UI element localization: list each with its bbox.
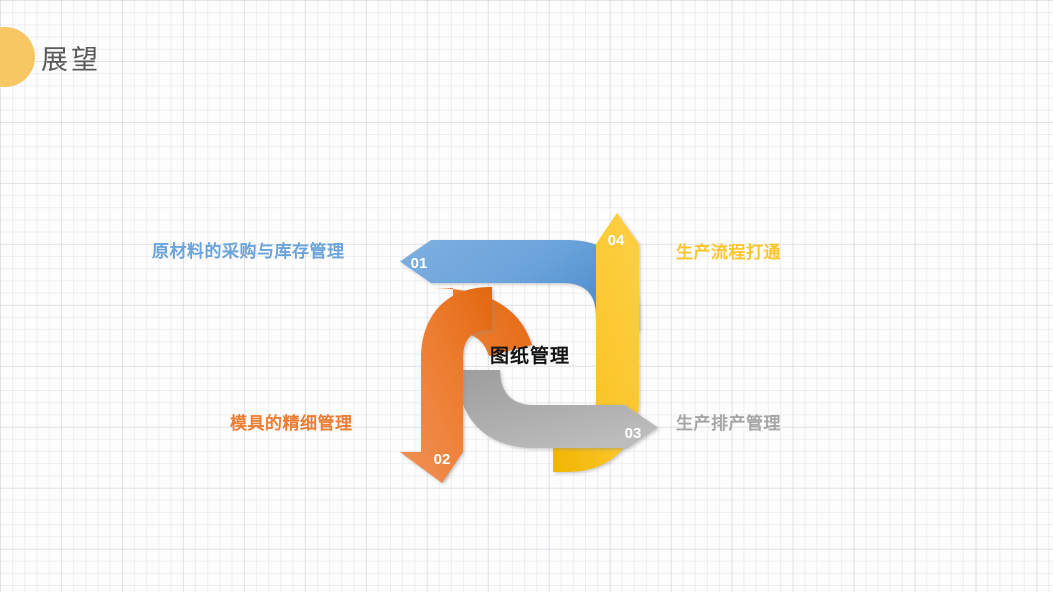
diagram-center-label: 图纸管理: [455, 341, 605, 368]
segment-label-01: 原材料的采购与库存管理: [152, 237, 345, 262]
segment-number-02: 02: [434, 451, 451, 468]
page-title: 展望: [41, 38, 101, 77]
segment-label-03: 生产排产管理: [676, 409, 781, 434]
cycle-arrow-diagram: 01 02 03 04: [0, 0, 1053, 592]
segment-number-04: 04: [608, 232, 625, 249]
segment-number-03: 03: [625, 425, 642, 442]
segment-label-04: 生产流程打通: [676, 238, 781, 263]
segment-label-02: 模具的精细管理: [230, 409, 353, 434]
segment-number-01: 01: [411, 255, 428, 272]
